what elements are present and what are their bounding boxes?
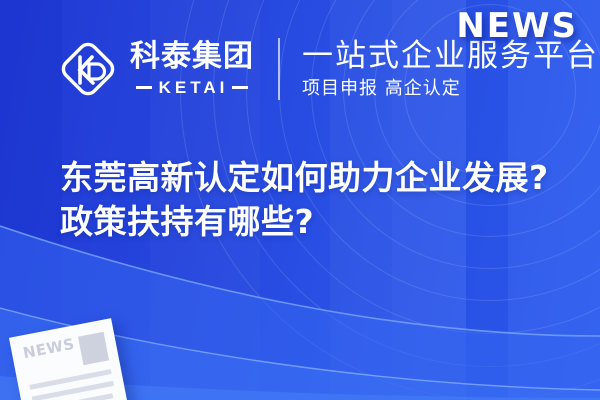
slogan-block: 一站式企业服务平台 项目申报 高企认定 [302,40,599,99]
newspaper-thumbnail-icon [78,332,109,365]
headline-line-2: 政策扶持有哪些? [60,200,560,244]
newspaper-illustration: NEWS [0,324,144,400]
logo-company-name-en: KETAI [159,79,229,96]
newspaper-card: NEWS [9,318,131,400]
slogan-secondary: 项目申报 高企认定 [302,80,599,98]
logo-wordmark: 科泰集团 KETAI [130,42,254,96]
newspaper-card-header: NEWS [22,331,109,376]
headline: 东莞高新认定如何助力企业发展? 政策扶持有哪些? [60,156,560,244]
newspaper-text-lines [29,369,118,400]
news-banner: 科泰集团 KETAI 一站式企业服务平台 项目申报 高企认定 NEWS 东莞高新… [0,0,600,400]
logo-dash-right-icon [232,86,248,89]
news-label: NEWS [456,6,578,46]
ketai-logo-icon [58,39,118,99]
header-divider [278,38,280,100]
headline-line-1: 东莞高新认定如何助力企业发展? [60,156,560,200]
logo-dash-left-icon [136,86,152,89]
newspaper-card-title: NEWS [22,337,76,362]
banner-header: 科泰集团 KETAI 一站式企业服务平台 项目申报 高企认定 [58,38,599,100]
logo-company-name-en-row: KETAI [130,79,254,96]
logo-company-name-cn: 科泰集团 [130,42,254,72]
